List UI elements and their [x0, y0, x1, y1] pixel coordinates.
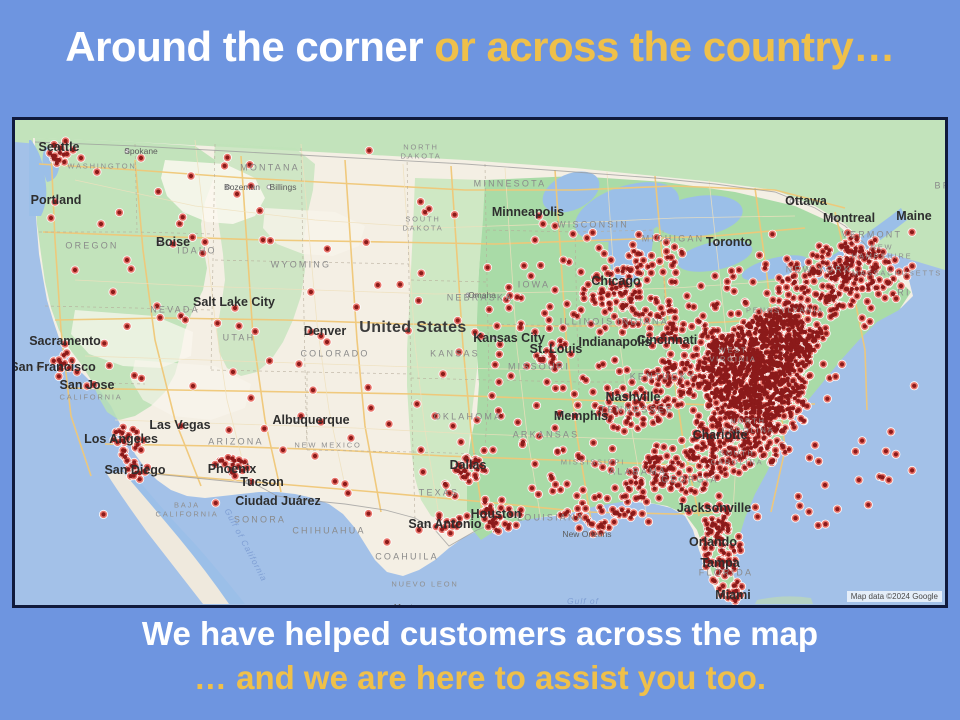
map-label-layer: SeattlePortlandSacramentoSan FranciscoSa…: [15, 120, 945, 605]
map-city-label: Kansas City: [473, 331, 545, 345]
map-state-label: LOUISIANA: [517, 512, 585, 523]
map-city-label: Charlotte: [693, 428, 748, 442]
city-marker-ring: [833, 216, 838, 221]
map-state-label: NEW YORK: [786, 264, 852, 275]
map-state-label: RI: [897, 287, 910, 298]
map-state-label: ARIZONA: [208, 436, 263, 447]
map-canvas[interactable]: SeattlePortlandSacramentoSan FranciscoSa…: [15, 120, 945, 605]
map-city-label: Los Angeles: [84, 432, 158, 446]
map-state-label: ILLINOIS: [560, 316, 615, 327]
map-state-label: VERMONT: [842, 229, 902, 240]
map-city-label: Dallas: [450, 458, 487, 472]
map-state-label: COLORADO: [300, 348, 369, 359]
caption-line-2: … and we are here to assist you too.: [0, 660, 960, 697]
map-state-label: TENNESSEE: [600, 404, 674, 415]
map-state-label: INDIANA: [617, 316, 669, 327]
map-city-label: Albuquerque: [272, 413, 349, 427]
map-state-label: KANSAS: [430, 348, 480, 359]
map-state-label: TEXAS: [419, 487, 460, 498]
map-state-label: MINNESOTA: [474, 178, 547, 189]
map-city-label: Montreal: [823, 211, 875, 225]
map-city-label: St. Louis: [530, 342, 583, 356]
map-city-label: San Diego: [104, 463, 165, 477]
map-state-label: ARKANSAS: [513, 429, 580, 440]
map-city-label: Memphis: [554, 409, 608, 423]
map-state-label: NORTHDAKOTA: [400, 143, 441, 162]
map-state-label: BAJACALIFORNIA: [155, 501, 218, 520]
map-city-label: Portland: [31, 193, 82, 207]
city-marker-ring: [713, 240, 718, 245]
map-state-label: WYOMING: [271, 259, 331, 270]
map-state-label: BR: [935, 180, 948, 191]
map-state-label: SONORA: [234, 514, 286, 525]
map-city-label: San Antonio: [408, 517, 481, 531]
map-state-label: MICHIGAN: [642, 233, 705, 244]
city-marker-ring: [466, 293, 471, 298]
map-state-label: UTAH: [223, 332, 256, 343]
map-state-label: MISSOURI: [508, 361, 570, 372]
map-city-label: Billings: [270, 182, 297, 192]
map-state-label: WESTVIRGINIA: [709, 346, 756, 365]
map-city-label: Houston: [471, 507, 522, 521]
map-city-label: Tampa: [700, 556, 739, 570]
city-marker-ring: [125, 149, 130, 154]
map-state-label: SOUTHCAROLINA: [711, 449, 764, 468]
map-city-label: Sacramento: [29, 334, 101, 348]
city-marker-ring: [397, 605, 402, 609]
map-state-label: CHIHUAHUA: [292, 525, 365, 536]
map-country-label: United States: [359, 319, 466, 337]
city-marker-ring: [295, 418, 300, 423]
city-marker-ring: [493, 336, 498, 341]
map-city-label: Cincinnati: [637, 333, 697, 347]
city-marker-ring: [157, 240, 162, 245]
map-state-label: IDAHO: [177, 245, 217, 256]
map-city-label: Denver: [304, 324, 346, 338]
map-city-label: Omaha: [468, 290, 496, 300]
map-city-label: Phoenix: [208, 462, 257, 476]
map-state-label: MONTANA: [240, 162, 300, 173]
map-city-label: Miami: [715, 588, 750, 602]
map-state-label: NEWHAMPSHIRE: [852, 243, 913, 262]
map-city-label: Indianapolis: [579, 335, 652, 349]
map-state-label: WASHINGTON: [67, 161, 136, 170]
map-state-label: NEW MEXICO: [294, 440, 361, 449]
map-state-label: FLORIDA: [699, 567, 753, 578]
caption-line-1: We have helped customers across the map: [0, 616, 960, 653]
map-state-label: KENTUCKY: [630, 371, 697, 382]
map-city-label: Minneapolis: [492, 205, 564, 219]
city-marker-ring: [37, 365, 42, 370]
map-state-label: GEORGIA: [661, 474, 718, 485]
map-water-label: Gulf of California: [222, 507, 269, 583]
map-container[interactable]: SeattlePortlandSacramentoSan FranciscoSa…: [12, 117, 948, 608]
map-city-label: Maine: [896, 209, 931, 223]
city-marker-ring: [226, 185, 231, 190]
headline-part-white: Around the corner: [65, 23, 434, 70]
map-state-label: CALIFORNIA: [59, 392, 122, 401]
map-city-label: New Orleans: [562, 529, 611, 539]
city-marker-ring: [790, 199, 795, 204]
map-state-label: COAHUILA: [375, 551, 439, 562]
map-state-label: SOUTHDAKOTA: [402, 215, 443, 234]
map-attribution: Map data ©2024 Google: [847, 591, 942, 602]
map-city-label: San Francisco: [12, 360, 96, 374]
headline-part-gold: or across the country…: [434, 23, 894, 70]
map-state-label: MASSACHUSETTS: [852, 268, 942, 277]
map-state-label: OREGON: [65, 240, 118, 251]
slide-headline: Around the corner or across the country…: [0, 24, 960, 70]
map-state-label: IOWA: [518, 279, 550, 290]
map-city-label: Seattle: [39, 140, 80, 154]
map-water-label: Gulf of: [567, 596, 599, 606]
map-state-label: ALABAMA: [609, 466, 667, 477]
map-city-label: Salt Lake City: [193, 295, 275, 309]
map-city-label: Ciudad Juárez: [235, 494, 320, 508]
map-city-label: Monterrey: [394, 602, 432, 608]
city-marker-ring: [246, 480, 251, 485]
city-marker-ring: [267, 185, 272, 190]
map-city-label: Orlando: [689, 535, 737, 549]
map-city-label: San Jose: [60, 378, 115, 392]
map-state-label: PENNSYLVANIA: [746, 305, 824, 314]
map-state-label: NORTHCAROLINA: [722, 417, 775, 436]
map-state-label: WISCONSIN: [557, 219, 629, 230]
map-state-label: OKLAHOMA: [434, 411, 503, 422]
map-city-label: Jacksonville: [677, 501, 751, 515]
map-state-label: NUEVO LEON: [391, 579, 458, 588]
map-state-label: MISSISSIPPI: [561, 457, 625, 466]
map-city-label: Nashville: [606, 390, 661, 404]
map-city-label: Chicago: [591, 274, 640, 288]
map-state-label: NEVADA: [150, 304, 200, 315]
map-city-label: Las Vegas: [149, 418, 210, 432]
map-state-label: NEBRASKA: [447, 292, 514, 303]
